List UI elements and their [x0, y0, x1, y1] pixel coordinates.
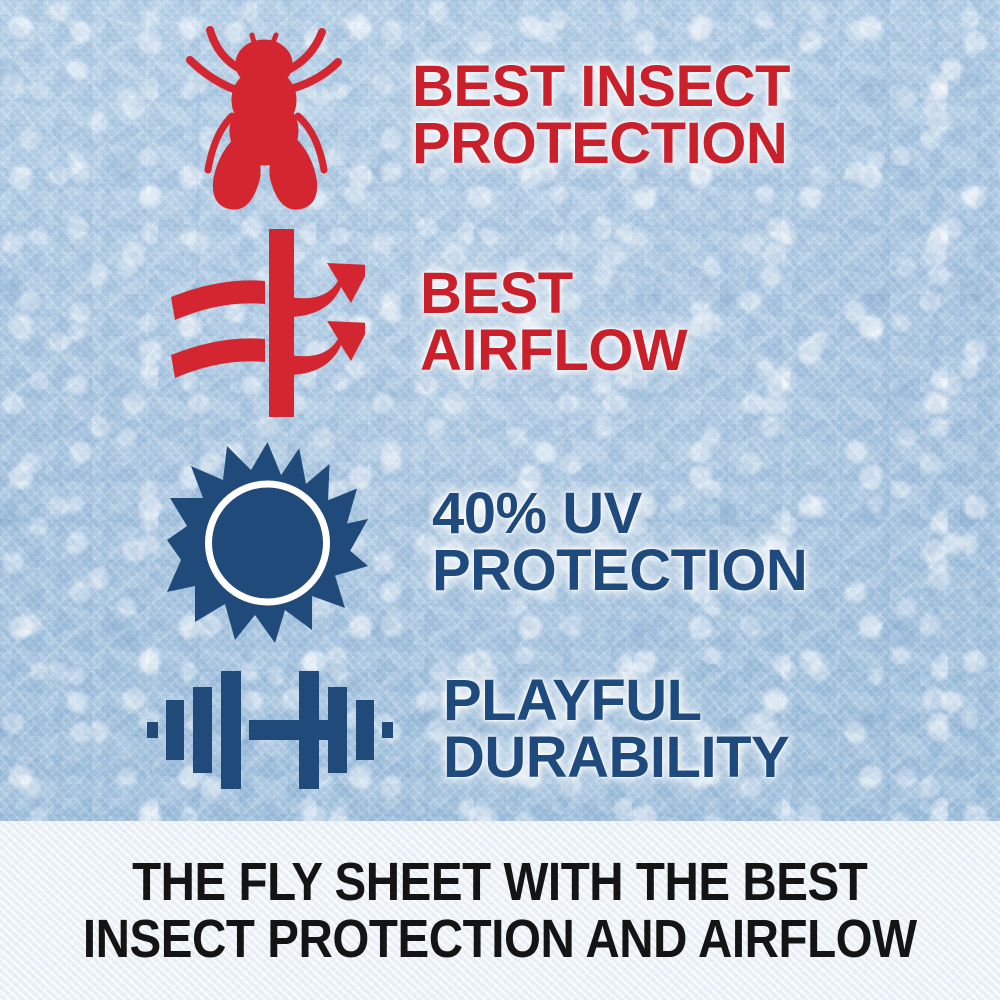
feature-row-durability: PLAYFUL DURABILITY	[145, 655, 1000, 805]
caption-headline: THE FLY SHEET WITH THE BEST INSECT PROTE…	[83, 854, 917, 966]
dumbbell-icon-svg	[145, 655, 395, 805]
sun-uv-icon	[165, 440, 370, 645]
feature-label-airflow: BEST AIRFLOW	[420, 266, 687, 380]
feature-text-durability: PLAYFUL DURABILITY	[443, 673, 789, 787]
feature-text-uv-protection: 40% UV PROTECTION	[432, 486, 807, 600]
fly-icon-svg	[170, 18, 360, 213]
sun-uv-icon-svg	[165, 440, 370, 645]
feature-text-airflow: BEST AIRFLOW	[420, 266, 687, 380]
feature-text-insect-protection: BEST INSECT PROTECTION	[412, 59, 790, 173]
caption-band: THE FLY SHEET WITH THE BEST INSECT PROTE…	[0, 821, 1000, 1000]
feature-label-uv-protection: 40% UV PROTECTION	[432, 486, 807, 600]
product-feature-poster: BEST INSECT PROTECTION	[0, 0, 1000, 1000]
feature-row-airflow: BEST AIRFLOW	[165, 225, 1000, 420]
feature-row-uv-protection: 40% UV PROTECTION	[165, 440, 1000, 645]
feature-label-insect-protection: BEST INSECT PROTECTION	[412, 59, 790, 173]
feature-row-insect-protection: BEST INSECT PROTECTION	[170, 18, 1000, 213]
fly-icon	[170, 18, 360, 213]
dumbbell-icon	[145, 655, 395, 805]
feature-label-durability: PLAYFUL DURABILITY	[443, 673, 789, 787]
airflow-icon-svg	[165, 225, 365, 420]
airflow-icon	[165, 225, 365, 420]
